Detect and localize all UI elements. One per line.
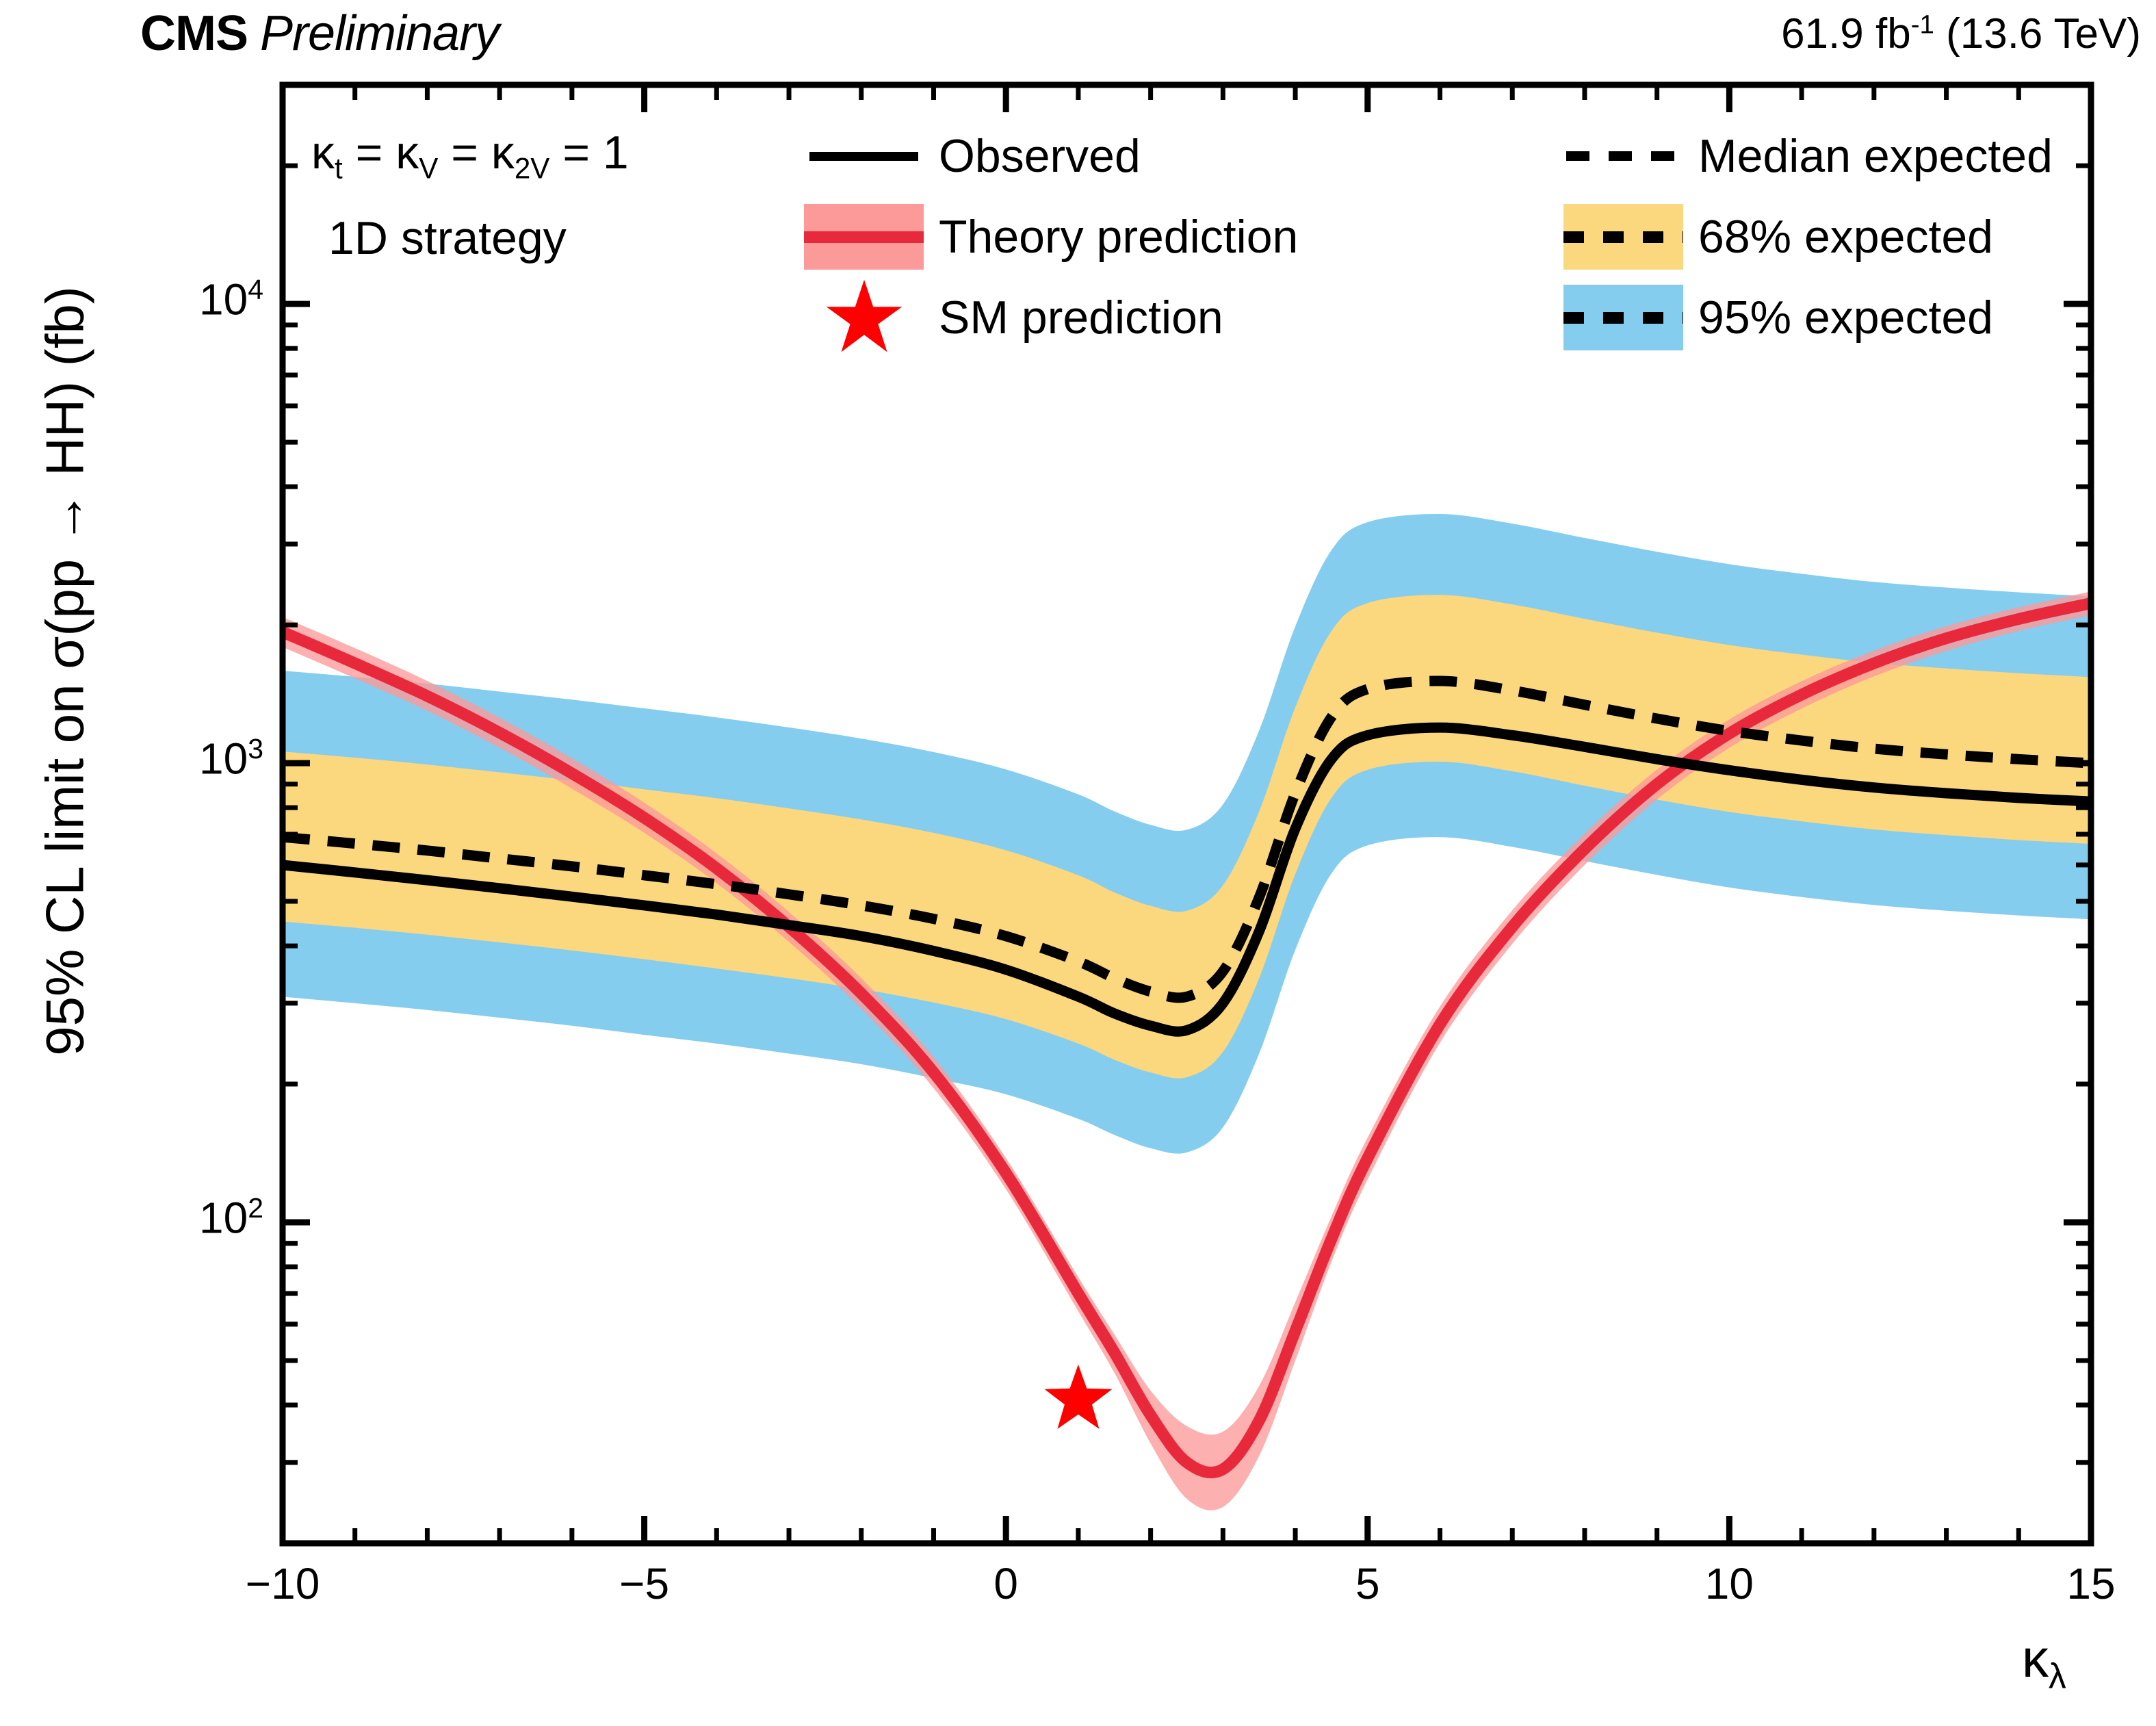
legend-label-95-expected: 95% expected: [1698, 294, 1993, 341]
legend-item-observed[interactable]: Observed: [804, 120, 1141, 192]
strategy-text: 1D strategy: [328, 215, 567, 261]
legend-item-sm-prediction[interactable]: SM prediction: [804, 281, 1223, 354]
legend-annotation-kappas: κt = κV = κ2V = 1: [311, 120, 629, 192]
theory-band-key-icon: [804, 204, 924, 270]
observed-line-key-icon: [804, 123, 924, 189]
chart-legend: κt = κV = κ2V = 1 1D strategy Observed T…: [311, 120, 2063, 352]
kappa-constraint-text: κt = κV = κ2V = 1: [311, 129, 629, 183]
legend-item-theory-prediction[interactable]: Theory prediction: [804, 201, 1298, 273]
median-expected-dash-key-icon: [1563, 123, 1683, 189]
legend-label-observed: Observed: [939, 133, 1141, 179]
legend-item-median-expected[interactable]: Median expected: [1563, 120, 2053, 192]
band-68-key-icon: [1563, 204, 1683, 270]
legend-item-68-expected[interactable]: 68% expected: [1563, 201, 1993, 273]
legend-label-theory-prediction: Theory prediction: [939, 214, 1298, 260]
legend-item-95-expected[interactable]: 95% expected: [1563, 281, 1993, 354]
legend-label-sm-prediction: SM prediction: [939, 294, 1223, 341]
legend-annotation-strategy: 1D strategy: [328, 202, 567, 274]
sm-prediction-star-marker: [1045, 1365, 1113, 1429]
legend-label-68-expected: 68% expected: [1698, 214, 1993, 260]
band-95-key-icon: [1563, 285, 1683, 350]
plot-canvas: CMSPreliminary 61.9 fb-1 (13.6 TeV) 95% …: [0, 0, 2156, 1726]
legend-label-median-expected: Median expected: [1698, 133, 2053, 179]
sm-prediction-star-icon: [804, 285, 924, 350]
